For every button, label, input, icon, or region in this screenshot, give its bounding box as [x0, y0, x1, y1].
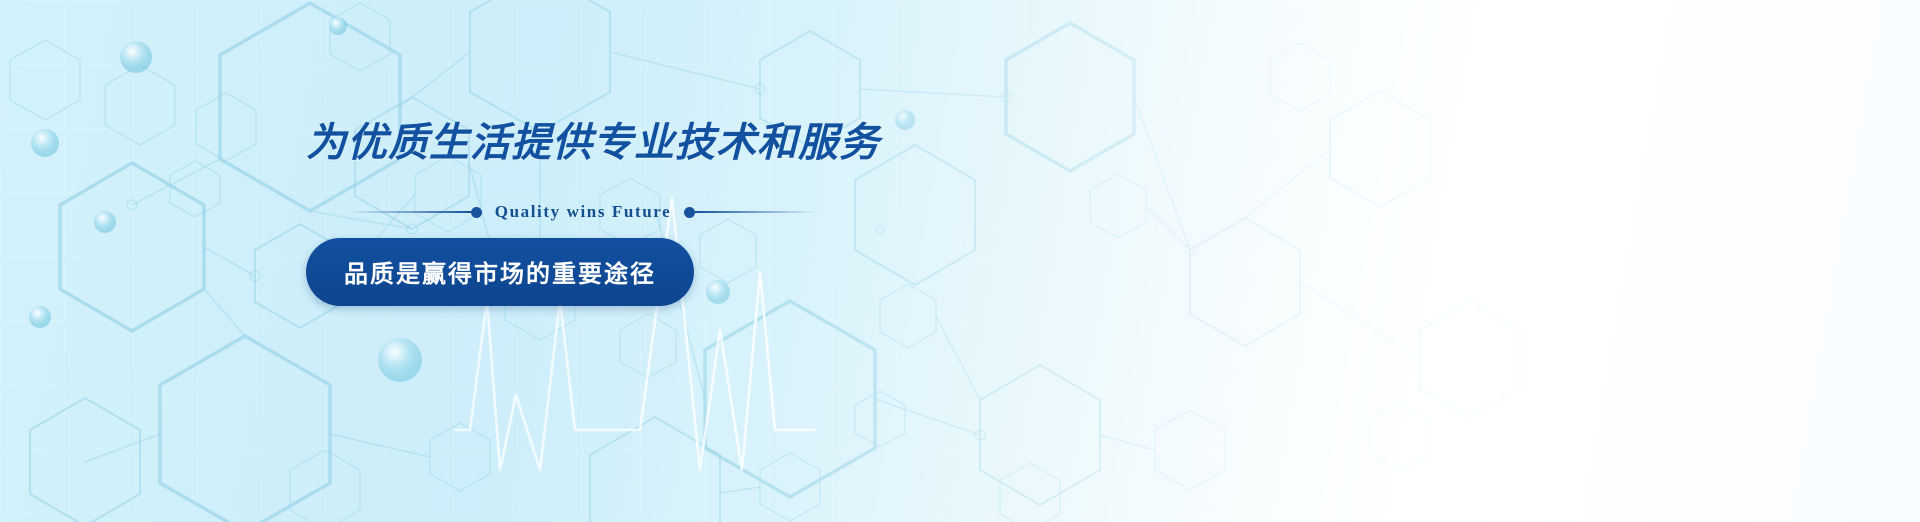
tagline-row: Quality wins Future: [348, 202, 818, 222]
banner-copy: 为优质生活提供专业技术和服务 Quality wins Future 品质是赢得…: [306, 122, 866, 306]
tagline-dot-right: [684, 207, 695, 218]
cta-button[interactable]: 品质是赢得市场的重要途径: [306, 238, 694, 306]
hero-banner: 为优质生活提供专业技术和服务 Quality wins Future 品质是赢得…: [0, 0, 1920, 522]
tagline-dot-left: [471, 207, 482, 218]
doctor-photo: [860, 0, 1920, 522]
tagline-rule-left: [348, 211, 471, 213]
page-title: 为优质生活提供专业技术和服务: [306, 122, 866, 164]
tagline-text: Quality wins Future: [482, 202, 685, 222]
tagline-rule-right: [695, 211, 818, 213]
